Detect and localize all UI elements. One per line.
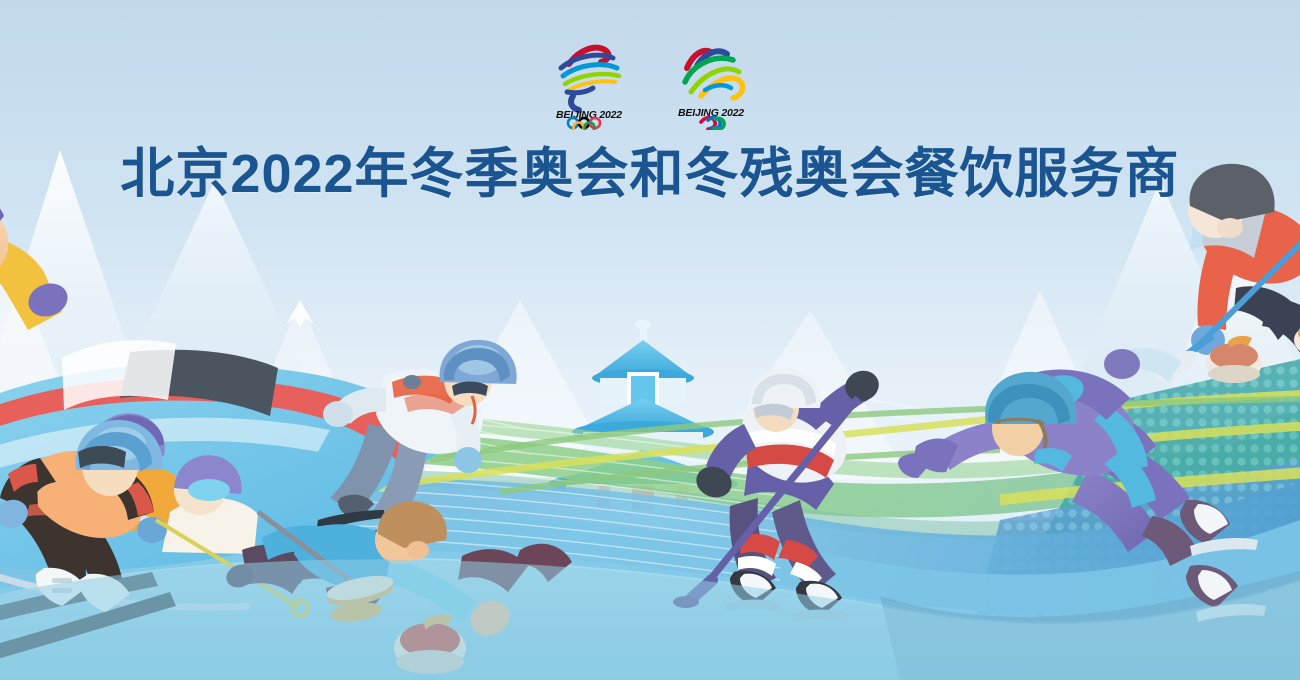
page-title: 北京2022年冬季奥会和冬残奥会餐饮服务商 [0,144,1300,204]
beijing-2022-olympic-emblem: BEIJING 2022 [539,30,639,130]
olympic-wordmark: BEIJING 2022 [556,109,622,121]
olympic-ribbon-icon [561,48,619,110]
agitos-icon [701,118,724,129]
paralympic-ribbon-icon [685,51,743,98]
emblem-row: BEIJING 2022 BEIJING 2022 [0,30,1300,135]
athlete-speed-skater [898,370,1266,622]
beijing-2022-paralympic-emblem: BEIJING 2022 [661,30,761,130]
beijing-2022-banner: BEIJING 2022 BEIJING 2022 [0,0,1300,680]
athlete-bobsleigh-pilot [0,190,72,330]
foreground-ice-sheen [0,559,1300,680]
